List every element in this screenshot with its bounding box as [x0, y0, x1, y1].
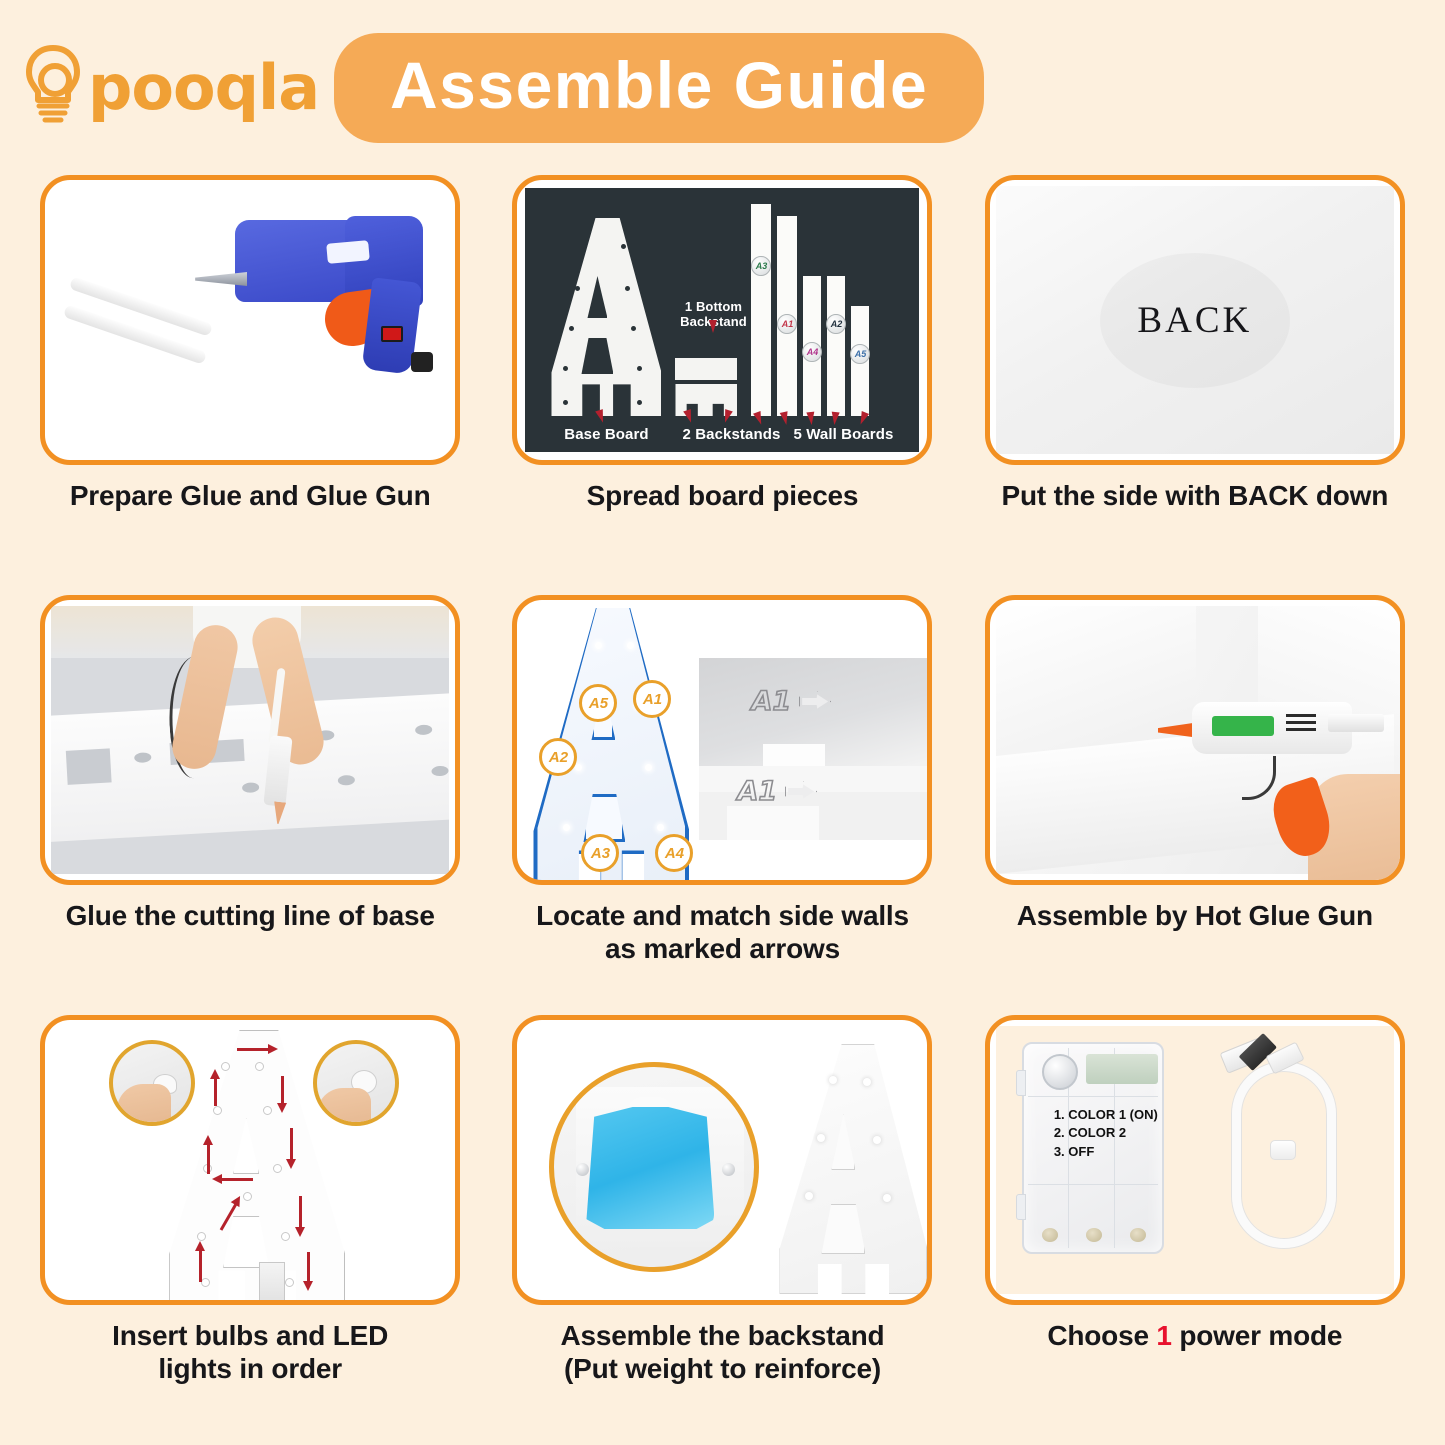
step-8-caption-line1: Assemble the backstand	[561, 1320, 885, 1351]
gluing-base-photo	[51, 606, 449, 874]
pointer-arrow-icon	[709, 320, 717, 333]
route-arrow-icon	[207, 1144, 210, 1174]
bottom-backstand-piece	[675, 358, 737, 380]
glue-gun-window	[326, 240, 370, 264]
hand	[117, 1084, 171, 1126]
power-mode-item-1: 1. COLOR 1 (ON)	[1054, 1106, 1166, 1124]
arrow-right-icon	[799, 691, 831, 713]
bulb-hole	[581, 244, 586, 249]
box-divider	[1028, 1184, 1158, 1185]
glue-stick-icon	[1328, 714, 1384, 732]
backstand-assembly-photo	[523, 1026, 921, 1294]
step-8: Assemble the backstand (Put weight to re…	[492, 1015, 952, 1435]
battery-cell	[1042, 1228, 1058, 1242]
back-panel-circle: BACK	[1100, 253, 1290, 388]
route-arrow-icon	[299, 1196, 302, 1228]
glue-stick-icon	[69, 276, 213, 336]
page-title: Assemble Guide	[390, 47, 928, 123]
glue-gun-nozzle	[195, 272, 247, 286]
box-latch	[1016, 1070, 1026, 1096]
step-8-image	[512, 1015, 932, 1305]
brand-logo: pooqla	[22, 42, 312, 134]
battery-box: 1. COLOR 1 (ON) 2. COLOR 2 3. OFF	[1022, 1042, 1164, 1254]
step-5-image: A5 A1 A2 A3 A4 A1 A1	[512, 595, 932, 885]
base-board-piece	[51, 691, 449, 842]
step-9-caption-suffix: power mode	[1172, 1320, 1343, 1351]
step-6: Assemble by Hot Glue Gun	[965, 595, 1425, 1015]
step-5-caption-line2: as marked arrows	[605, 933, 840, 964]
base-board-label: Base Board	[541, 426, 671, 443]
page-header: pooqla Assemble Guide	[0, 0, 1445, 175]
inset-photo-water-bag	[549, 1062, 759, 1272]
wall-tag-a1: A1	[633, 680, 671, 718]
route-arrow-icon	[199, 1250, 202, 1282]
vent-line	[1286, 714, 1316, 717]
vent-line	[1286, 728, 1316, 731]
pointer-arrow-icon	[684, 409, 696, 424]
title-banner: Assemble Guide	[334, 33, 984, 143]
power-mode-item-3: 3. OFF	[1054, 1143, 1166, 1161]
step-2-image: A3 A1 A4 A2 A5 1 BottomBackstand Base Bo…	[512, 175, 932, 465]
step-5-caption: Locate and match side walls as marked ar…	[536, 899, 909, 965]
glue-gun-plug	[411, 352, 433, 372]
brand-name: pooqla	[88, 51, 319, 124]
bulb-hole	[338, 775, 356, 786]
board-slot	[66, 748, 112, 784]
wall-board-a2	[827, 276, 845, 416]
cable-tie	[1270, 1140, 1296, 1160]
wall-marking-a1-bottom: A1	[737, 776, 817, 807]
pointer-arrow-icon	[722, 409, 734, 424]
route-arrow-icon	[281, 1076, 284, 1104]
step-1-caption: Prepare Glue and Glue Gun	[70, 479, 431, 512]
route-arrow-icon	[307, 1252, 310, 1282]
arrow-right-icon	[785, 781, 817, 803]
route-arrow-icon	[214, 1078, 217, 1106]
step-4: Glue the cutting line of base	[20, 595, 480, 1015]
glue-gun-power-switch	[381, 326, 403, 342]
glue-gun-vents	[1286, 714, 1316, 738]
marking-label: A1	[737, 776, 777, 807]
bulb-hole	[134, 752, 152, 763]
step-7-image	[40, 1015, 460, 1305]
bulb-hole	[242, 782, 260, 793]
back-panel: BACK	[996, 186, 1394, 454]
vent-line	[1286, 721, 1316, 724]
hot-glue-gun-photo	[996, 606, 1394, 874]
step-7-caption: Insert bulbs and LED lights in order	[112, 1319, 388, 1385]
step-5-caption-line1: Locate and match side walls	[536, 900, 909, 931]
marking-label: A1	[751, 686, 791, 717]
step-8-caption: Assemble the backstand (Put weight to re…	[561, 1319, 885, 1385]
step-2: A3 A1 A4 A2 A5 1 BottomBackstand Base Bo…	[492, 175, 952, 595]
glue-stick-icon	[63, 304, 207, 364]
battery-cell	[1130, 1228, 1146, 1242]
back-label: BACK	[1137, 299, 1252, 342]
water-bag-weight	[586, 1107, 714, 1229]
inset-photo-screw-bulb	[313, 1040, 399, 1126]
wall-boards-label: 5 Wall Boards	[773, 426, 913, 443]
steps-grid: Prepare Glue and Glue Gun	[0, 175, 1445, 1435]
step-2-caption: Spread board pieces	[587, 479, 859, 512]
wall-marking-a1-top: A1	[751, 686, 831, 717]
step-4-caption: Glue the cutting line of base	[66, 899, 435, 932]
circuit-chip	[1086, 1054, 1158, 1084]
mode-knob[interactable]	[1042, 1054, 1078, 1090]
bulb-hole	[431, 766, 449, 777]
board-pieces-diagram: A3 A1 A4 A2 A5 1 BottomBackstand Base Bo…	[525, 188, 919, 452]
bulb-hole	[285, 1278, 294, 1287]
step-3-image: BACK	[985, 175, 1405, 465]
step-7-caption-line1: Insert bulbs and LED	[112, 1320, 388, 1351]
led-routing-diagram	[51, 1026, 449, 1294]
pointer-arrow-icon	[831, 412, 840, 426]
bulb-hole	[415, 724, 433, 735]
step-8-caption-line2: (Put weight to reinforce)	[564, 1353, 881, 1384]
step-7: Insert bulbs and LED lights in order	[20, 1015, 480, 1435]
step-1-image	[40, 175, 460, 465]
step-9: 1. COLOR 1 (ON) 2. COLOR 2 3. OFF	[965, 1015, 1425, 1435]
battery-cell	[1086, 1228, 1102, 1242]
locate-side-walls-diagram: A5 A1 A2 A3 A4 A1 A1	[523, 606, 921, 874]
wall-marking-photo: A1 A1	[699, 658, 929, 840]
hand	[317, 1088, 371, 1126]
route-arrow-icon	[237, 1048, 269, 1051]
route-arrow-icon	[221, 1178, 253, 1181]
battery-box	[259, 1262, 285, 1304]
step-6-image	[985, 595, 1405, 885]
step-9-image: 1. COLOR 1 (ON) 2. COLOR 2 3. OFF	[985, 1015, 1405, 1305]
usb-cable	[1192, 1036, 1398, 1268]
route-arrow-icon	[290, 1128, 293, 1160]
power-mode-item-2: 2. COLOR 2	[1054, 1124, 1166, 1142]
power-mode-list: 1. COLOR 1 (ON) 2. COLOR 2 3. OFF	[1054, 1106, 1166, 1161]
box-divider	[1028, 1096, 1158, 1097]
step-9-caption-prefix: Choose	[1047, 1320, 1156, 1351]
step-3: BACK Put the side with BACK down	[965, 175, 1425, 595]
step-6-caption: Assemble by Hot Glue Gun	[1017, 899, 1373, 932]
glue-gun-label	[1212, 716, 1274, 736]
lightbulb-icon	[22, 42, 84, 134]
step-7-caption-line2: lights in order	[158, 1353, 342, 1384]
board-notch	[763, 744, 825, 766]
step-4-image	[40, 595, 460, 885]
box-latch	[1016, 1194, 1026, 1220]
step-1: Prepare Glue and Glue Gun	[20, 175, 480, 595]
inset-photo-insert-bulb	[109, 1040, 195, 1126]
step-5: A5 A1 A2 A3 A4 A1 A1	[492, 595, 952, 1015]
step-9-caption: Choose 1 power mode	[1047, 1319, 1342, 1352]
board-notch	[727, 806, 819, 840]
power-options: 1. COLOR 1 (ON) 2. COLOR 2 3. OFF	[996, 1026, 1394, 1294]
step-9-caption-highlight: 1	[1156, 1320, 1171, 1351]
step-3-caption: Put the side with BACK down	[1002, 479, 1389, 512]
